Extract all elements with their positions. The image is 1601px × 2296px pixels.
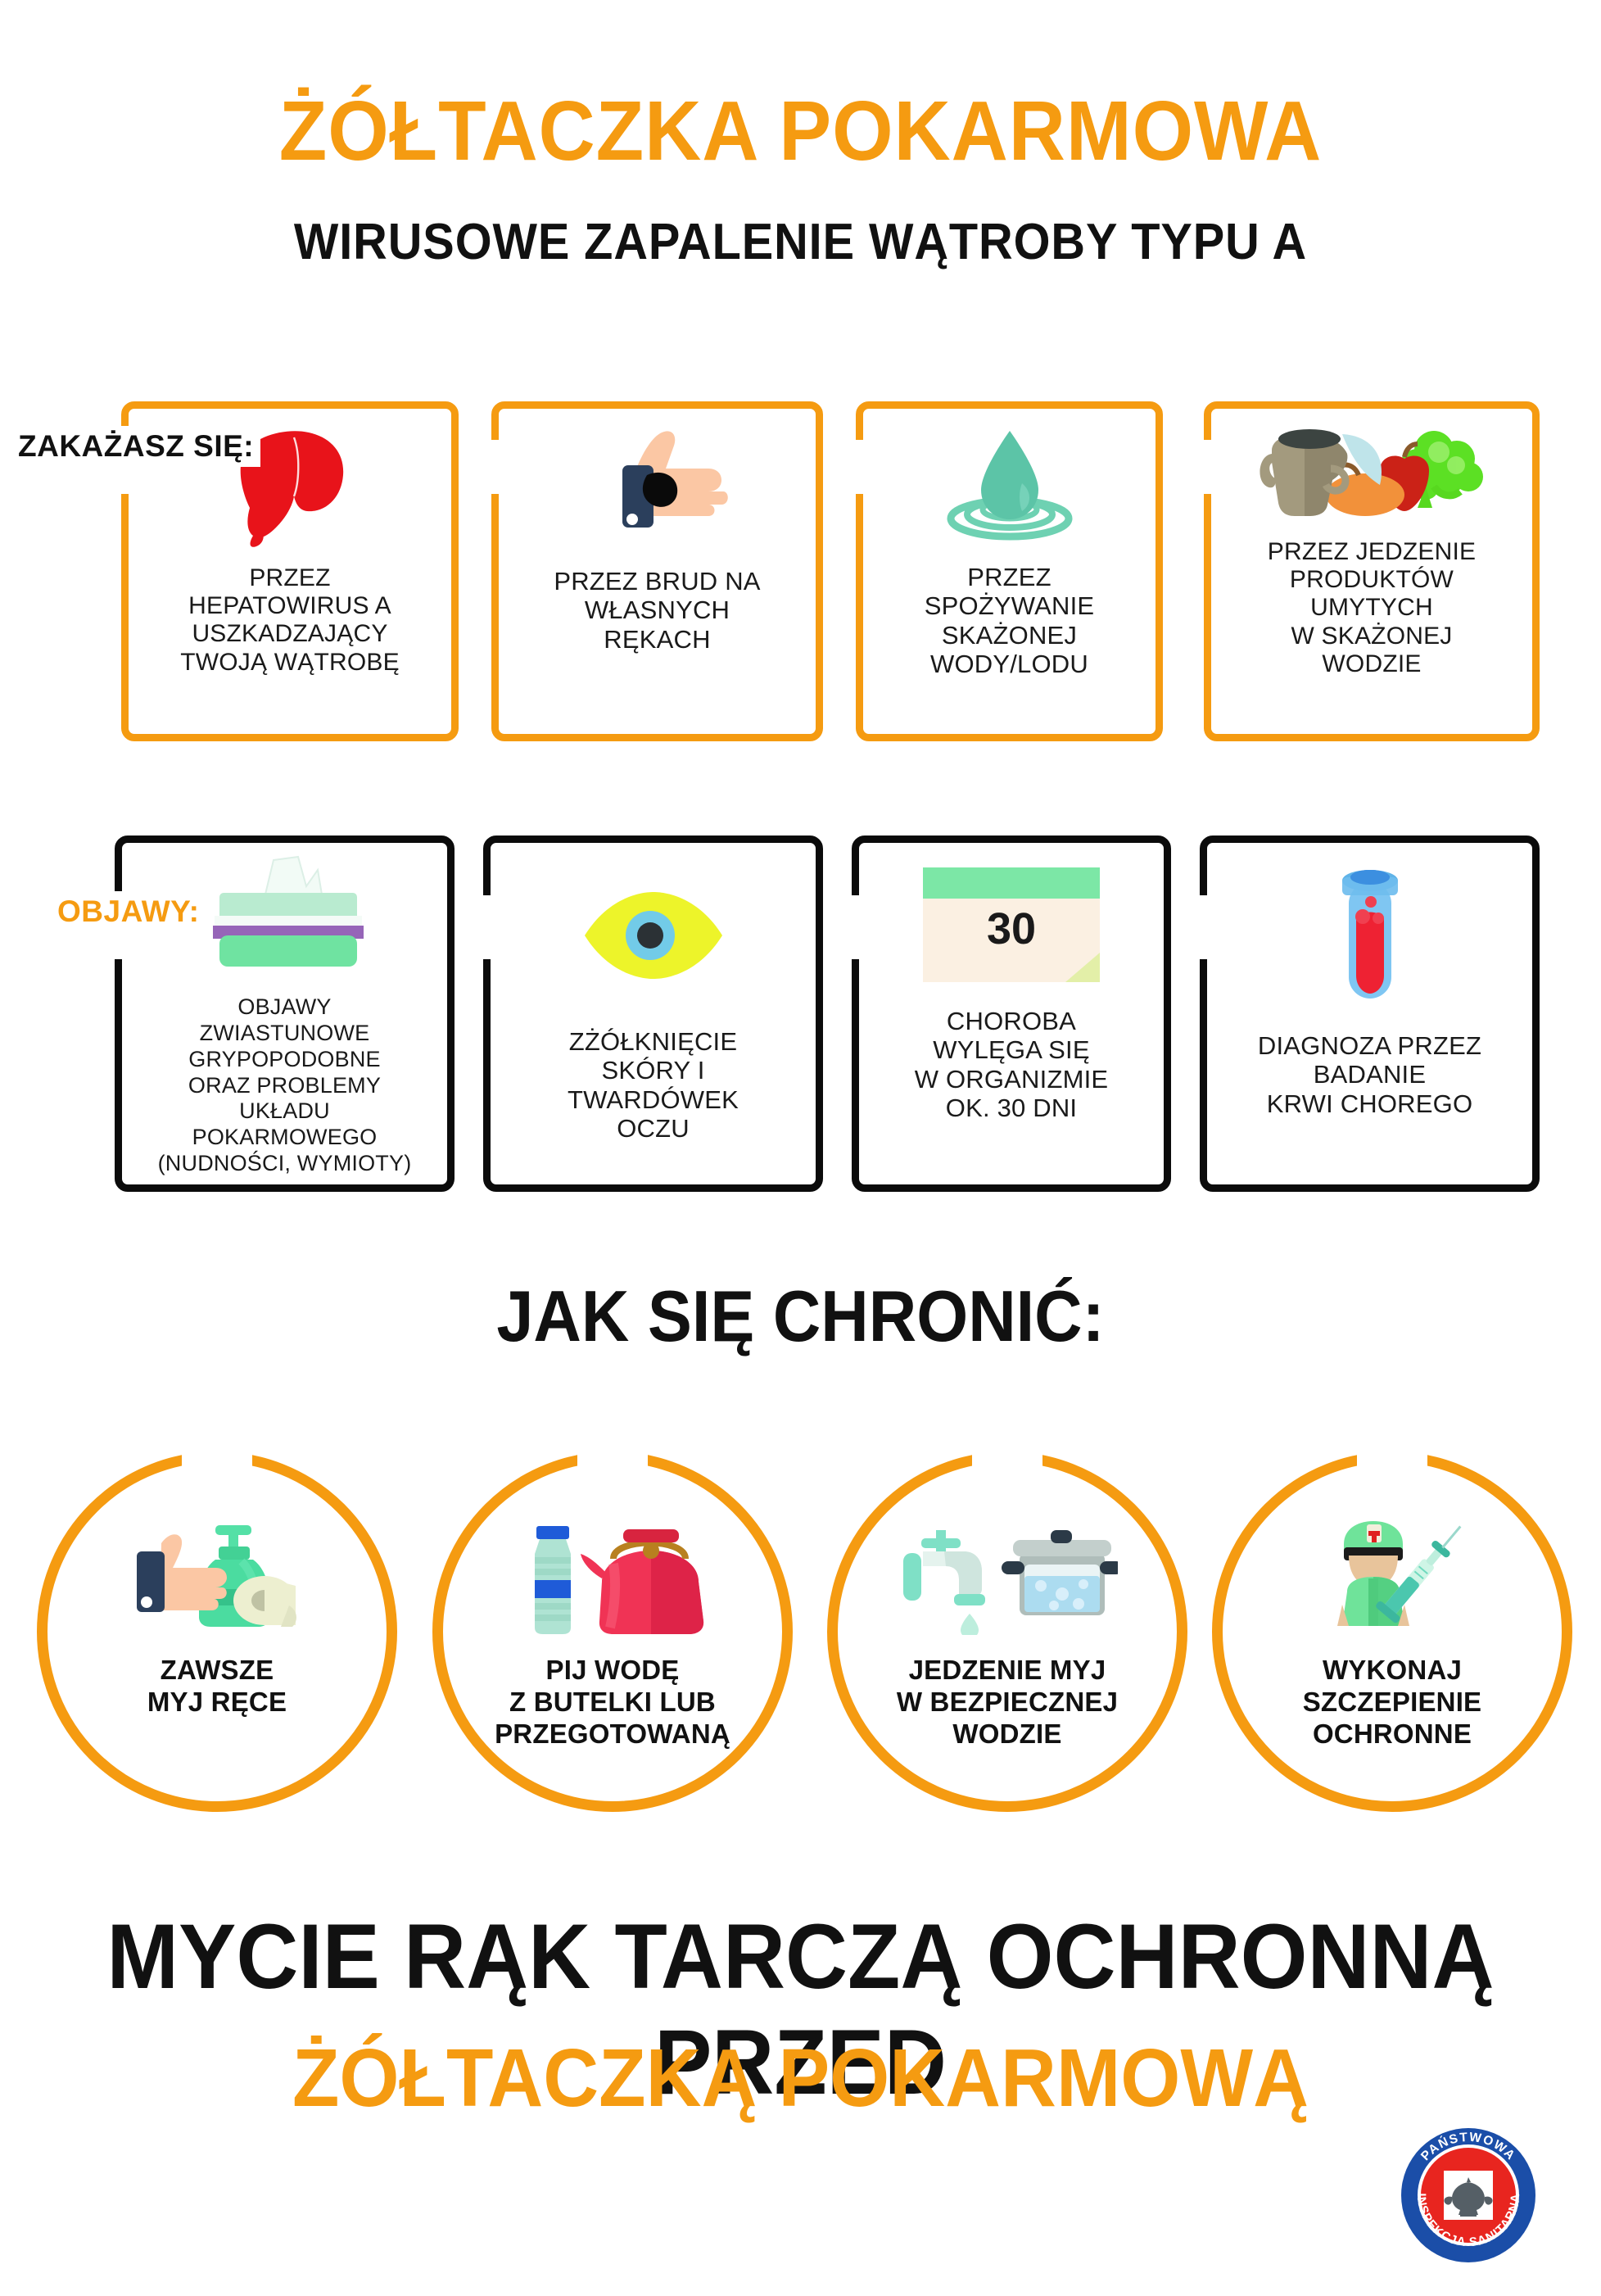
water-drop-icon xyxy=(863,409,1156,563)
prevention-label-1: ZAWSZE MYJ RĘCE xyxy=(94,1655,340,1719)
hand-soap-icon xyxy=(119,1520,315,1643)
border-notch xyxy=(1199,895,1210,959)
transmission-caption-2: PRZEZ BRUD NA WŁASNYCH RĘKACH xyxy=(499,560,816,654)
border-notch xyxy=(851,895,862,959)
symptom-card-3: 30 CHOROBA WYLĘGA SIĘ W ORGANIZMIE OK. 3… xyxy=(852,836,1171,1192)
border-notch xyxy=(855,440,866,494)
circle-ring-gap xyxy=(972,1448,1042,1476)
symptom-card-4: DIAGNOZA PRZEZ BADANIE KRWI CHOREGO xyxy=(1200,836,1540,1192)
transmission-card-3: PRZEZ SPOŻYWANIE SKAŻONEJ WODY/LODU xyxy=(856,401,1163,741)
prevention-card-1: ZAWSZE MYJ RĘCE xyxy=(37,1451,397,1812)
circle-ring-gap xyxy=(182,1448,252,1476)
transmission-caption-3: PRZEZ SPOŻYWANIE SKAŻONEJ WODY/LODU xyxy=(863,563,1156,678)
prevention-label-3: JEDZENIE MYJ W BEZPIECZNEJ WODZIE xyxy=(868,1655,1146,1750)
calendar-day-number: 30 xyxy=(923,903,1100,954)
transmission-caption-1: PRZEZ HEPATOWIRUS A USZKADZAJĄCY TWOJĄ W… xyxy=(129,564,451,677)
prevention-card-2: PIJ WODĘ Z BUTELKI LUB PRZEGOTOWANĄ xyxy=(432,1451,793,1812)
slogan-line-2: ŻÓŁTACZKĄ POKARMOWĄ xyxy=(48,2031,1554,2126)
symptom-card-2: ZŻÓŁKNIĘCIE SKÓRY I TWARDÓWEK OCZU xyxy=(483,836,823,1192)
symptom-caption-4: DIAGNOZA PRZEZ BADANIE KRWI CHOREGO xyxy=(1207,1031,1532,1118)
sanitary-inspection-logo: PAŃSTWOWA INSPEKCJA SANITARNA xyxy=(1395,2122,1542,2269)
transmission-label: ZAKAŻASZ SIĘ: xyxy=(11,426,260,467)
symptom-caption-1: OBJAWY ZWIASTUNOWE GRYPOPODOBNE ORAZ PRO… xyxy=(122,994,447,1177)
prevention-card-3: JEDZENIE MYJ W BEZPIECZNEJ WODZIE xyxy=(827,1451,1187,1812)
symptom-card-1: OBJAWY ZWIASTUNOWE GRYPOPODOBNE ORAZ PRO… xyxy=(115,836,455,1192)
page-subtitle: WIRUSOWE ZAPALENIE WĄTROBY TYPU A xyxy=(56,217,1544,268)
yellow-eye-icon xyxy=(491,843,816,1027)
calendar-30-icon: 30 xyxy=(859,843,1164,1007)
border-notch xyxy=(1203,440,1214,494)
prevention-card-4: WYKONAJ SZCZEPIENIE OCHRONNE xyxy=(1212,1451,1572,1812)
blood-test-tube-icon xyxy=(1207,843,1532,1031)
circle-ring-gap xyxy=(577,1448,648,1476)
symptom-caption-2: ZŻÓŁKNIĘCIE SKÓRY I TWARDÓWEK OCZU xyxy=(491,1027,816,1143)
nurse-syringe-icon xyxy=(1306,1520,1478,1643)
tap-pot-icon xyxy=(897,1520,1118,1643)
border-notch xyxy=(482,895,494,959)
prevention-heading: JAK SIĘ CHRONIĆ: xyxy=(64,1275,1537,1358)
poster-root: ŻÓŁTACZKA POKARMOWA WIRUSOWE ZAPALENIE W… xyxy=(0,0,1601,2296)
transmission-card-4: PRZEZ JEDZENIE PRODUKTÓW UMYTYCH W SKAŻO… xyxy=(1204,401,1540,741)
prevention-label-2: PIJ WODĘ Z BUTELKI LUB PRZEGOTOWANĄ xyxy=(477,1655,748,1750)
border-notch xyxy=(491,440,502,494)
circle-ring-gap xyxy=(1357,1448,1427,1476)
transmission-caption-4: PRZEZ JEDZENIE PRODUKTÓW UMYTYCH W SKAŻO… xyxy=(1211,538,1532,678)
dirty-hand-icon xyxy=(499,409,816,560)
page-title: ŻÓŁTACZKA POKARMOWA xyxy=(56,88,1544,173)
transmission-card-2: PRZEZ BRUD NA WŁASNYCH RĘKACH xyxy=(491,401,823,741)
washed-produce-icon xyxy=(1211,409,1532,538)
bottle-kettle-icon xyxy=(510,1520,715,1643)
symptom-caption-3: CHOROBA WYLĘGA SIĘ W ORGANIZMIE OK. 30 D… xyxy=(859,1007,1164,1122)
prevention-label-4: WYKONAJ SZCZEPIENIE OCHRONNE xyxy=(1257,1655,1527,1750)
symptoms-label: OBJAWY: xyxy=(51,891,206,932)
